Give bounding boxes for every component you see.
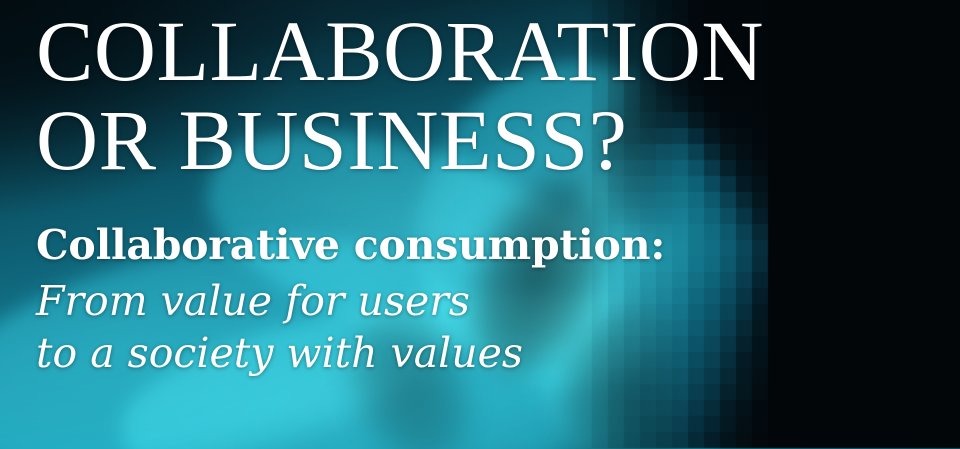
subtitle-italic-line-2: to a society with values <box>36 327 523 379</box>
title-line-1: COLLABORATION <box>36 7 764 96</box>
subtitle-italic-line-1: From value for users <box>36 275 523 327</box>
subtitle-italic: From value for users to a society with v… <box>36 275 523 379</box>
report-cover: COLLABORATION OR BUSINESS? Collaborative… <box>0 0 960 449</box>
title-line-2: OR BUSINESS? <box>36 96 764 185</box>
title-heading: COLLABORATION OR BUSINESS? <box>36 7 764 185</box>
subtitle-bold: Collaborative consumption: <box>36 222 665 268</box>
cover-subtitle-bold-wrap: Collaborative consumption: <box>36 222 665 268</box>
cover-subtitle-italic-wrap: From value for users to a society with v… <box>36 275 523 379</box>
cover-title: COLLABORATION OR BUSINESS? <box>36 7 764 185</box>
